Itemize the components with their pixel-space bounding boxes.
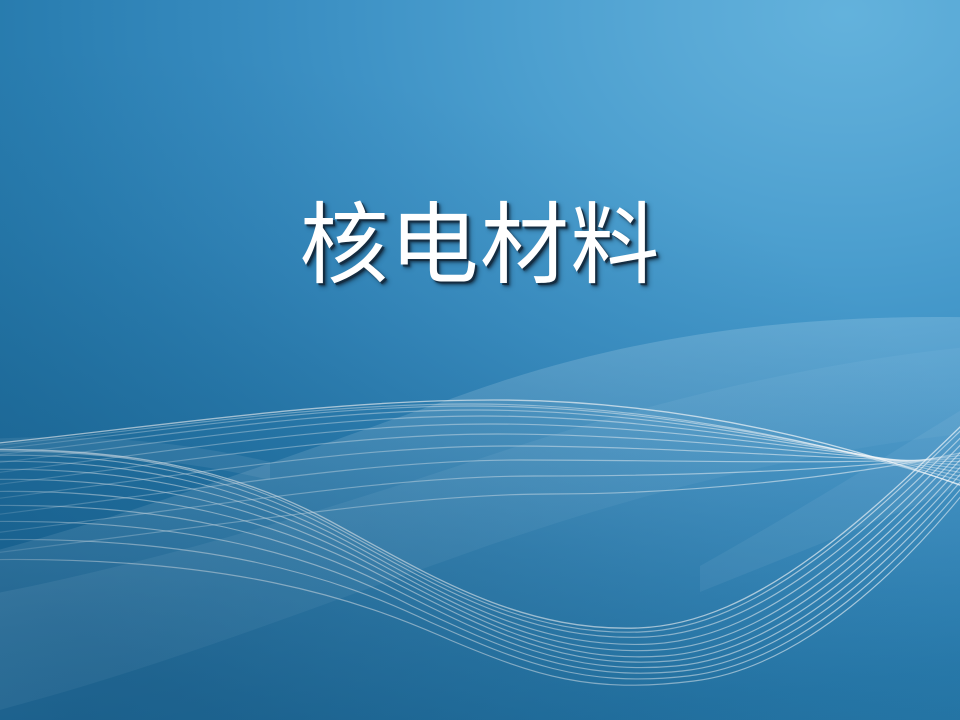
wave-left-convergence-glow <box>0 437 270 480</box>
title-block: 核电材料 <box>0 196 960 296</box>
slide-title: 核电材料 <box>299 196 660 296</box>
wave-decoration <box>0 0 960 720</box>
presentation-slide: 核电材料 <box>0 0 960 720</box>
